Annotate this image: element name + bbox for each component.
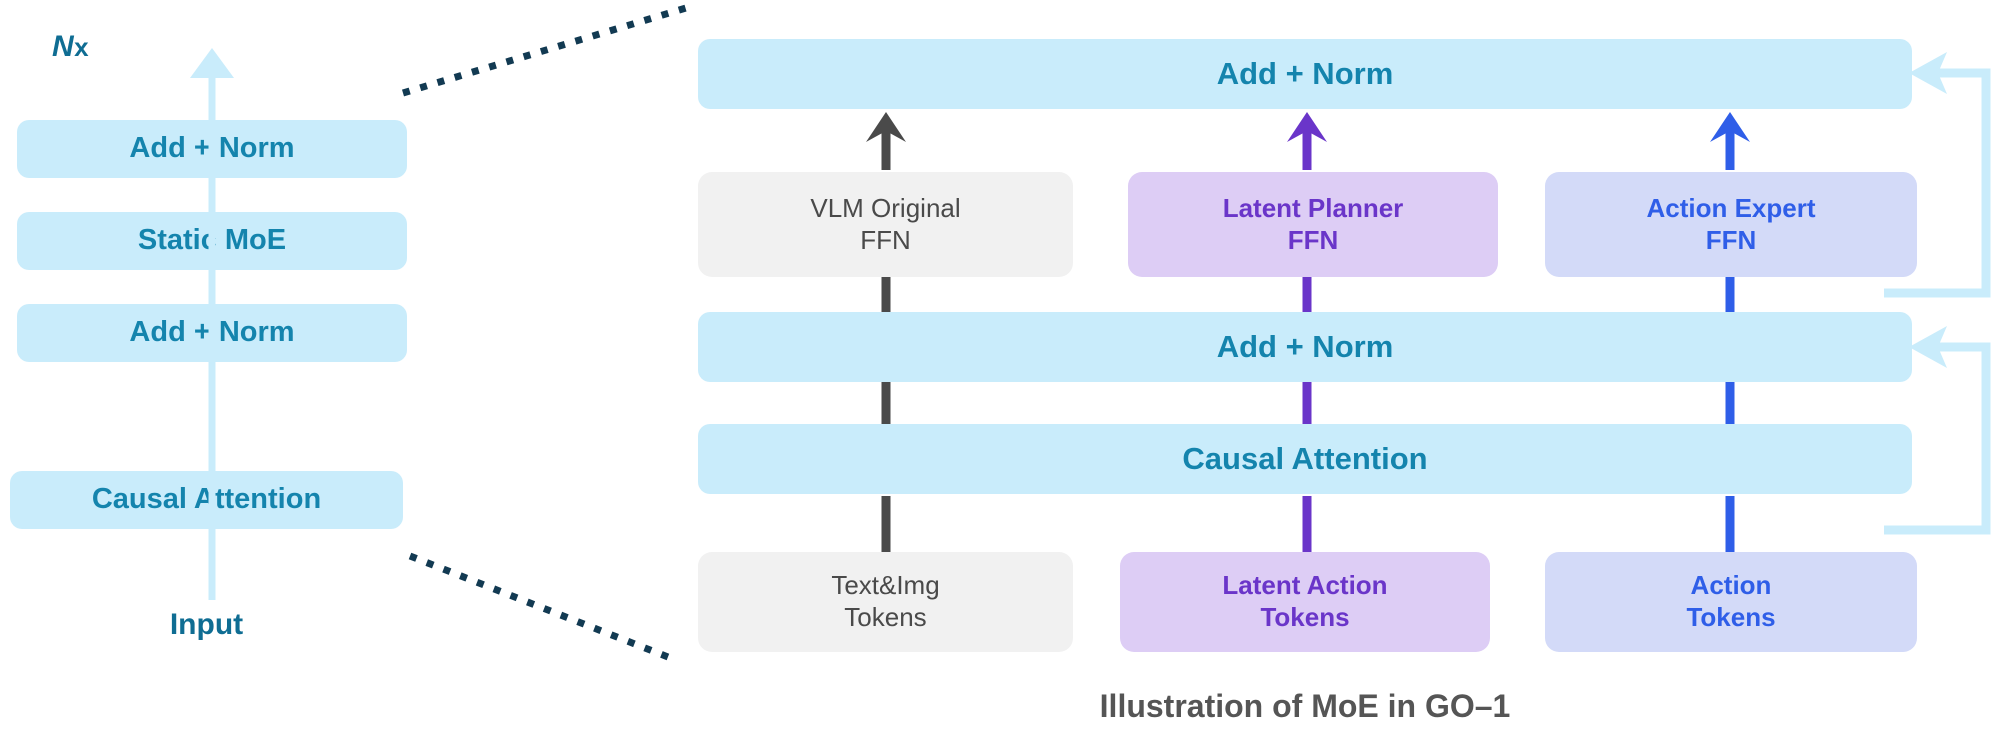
figure-canvas: Nx Add + Norm Static MoE Add + Norm Caus… — [0, 0, 2014, 748]
right-bar-add-norm-top[interactable]: Add + Norm — [698, 39, 1912, 109]
left-block-static-moe[interactable]: Static MoE — [17, 212, 407, 270]
ffn-vlm-original[interactable]: VLM Original FFN — [698, 172, 1073, 277]
dotted-connector-top — [403, 8, 686, 93]
figure-caption: Illustration of MoE in GO–1 — [698, 688, 1912, 725]
ffn-action-expert[interactable]: Action Expert FFN — [1545, 172, 1917, 277]
input-label: Input — [10, 608, 403, 642]
left-block-add-norm-top[interactable]: Add + Norm — [17, 120, 407, 178]
repeat-count-x: x — [74, 32, 89, 62]
tokens-action[interactable]: Action Tokens — [1545, 552, 1917, 652]
right-bar-causal-attention[interactable]: Causal Attention — [698, 424, 1912, 494]
left-block-add-norm-bottom[interactable]: Add + Norm — [17, 304, 407, 362]
dotted-connector-bottom — [410, 556, 668, 657]
ffn-latent-planner[interactable]: Latent Planner FFN — [1128, 172, 1498, 277]
repeat-count-n: N — [52, 30, 74, 63]
repeat-count-label: Nx — [52, 30, 89, 64]
tokens-latent-action[interactable]: Latent Action Tokens — [1120, 552, 1490, 652]
tokens-text-img[interactable]: Text&Img Tokens — [698, 552, 1073, 652]
right-bar-add-norm-middle[interactable]: Add + Norm — [698, 312, 1912, 382]
left-block-causal-attention[interactable]: Causal Attention — [10, 471, 403, 529]
